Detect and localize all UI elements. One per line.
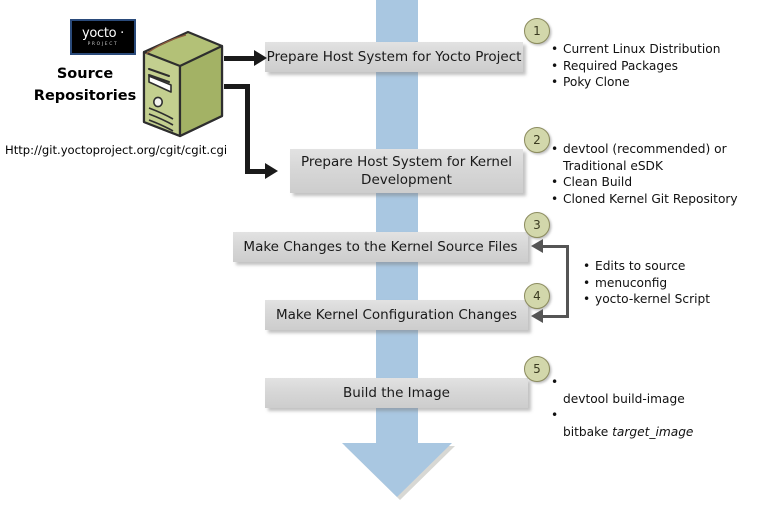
step-badge-5: 5 [524,356,550,382]
source-label-line2: Repositories [20,85,150,107]
step-badge-number: 2 [533,133,541,147]
list-item: devtool build-image [551,374,766,407]
list-item-text: devtool build-image [563,392,685,406]
list-item: yocto-kernel Script [583,291,768,308]
step-2-bullet-list: devtool (recommended) or Traditional eSD… [551,141,766,207]
step-box-build-the-image[interactable]: Build the Image [265,378,528,408]
server-tower-icon [136,30,228,138]
list-item-text: bitbake [563,425,612,439]
list-item: Current Linux Distribution [551,41,766,58]
step-badge-number: 5 [533,362,541,376]
connector-arrowhead-step4-icon [531,309,543,323]
yocto-project-logo: yocto · PROJECT [70,19,136,55]
step-badge-4: 4 [524,283,550,309]
steps-3-4-bullet-list: Edits to source menuconfig yocto-kernel … [583,258,768,308]
step-box-label: Prepare Host System for Kernel Developme… [290,153,523,189]
flow-arrow-head-icon [342,443,452,497]
source-repository-url: Http://git.yoctoproject.org/cgit/cgit.cg… [5,143,227,157]
source-repositories-label: Source Repositories [20,63,150,107]
list-item: Clean Build [551,174,766,191]
step-badge-1: 1 [524,18,550,44]
step-box-make-kernel-config-changes[interactable]: Make Kernel Configuration Changes [265,300,528,330]
step-badge-number: 1 [533,24,541,38]
diagram-canvas: yocto · PROJECT Source Repositories Http… [0,0,769,517]
connector-server-to-step1 [224,56,257,61]
connector-arrowhead-step3-icon [531,239,543,253]
step-badge-2: 2 [524,127,550,153]
step-box-label: Make Changes to the Kernel Source Files [243,238,517,256]
connector-server-to-step2-v [245,84,250,174]
step-1-bullet-list: Current Linux Distribution Required Pack… [551,41,766,91]
list-item: Edits to source [583,258,768,275]
step-box-make-kernel-source-changes[interactable]: Make Changes to the Kernel Source Files [233,232,528,262]
step-box-label: Prepare Host System for Yocto Project [267,48,522,66]
list-item: menuconfig [583,275,768,292]
connector-bracket-top [543,245,569,248]
step-box-label: Build the Image [343,384,450,402]
list-item: bitbake target_image [551,407,766,440]
list-item: Cloned Kernel Git Repository [551,191,766,208]
step-5-bullet-list: devtool build-image bitbake target_image [551,374,766,440]
step-box-prepare-host-kernel[interactable]: Prepare Host System for Kernel Developme… [290,149,523,193]
list-item: Poky Clone [551,74,766,91]
step-box-prepare-host-yocto[interactable]: Prepare Host System for Yocto Project [265,42,523,72]
connector-bracket-bottom [543,315,569,318]
list-item: Required Packages [551,58,766,75]
connector-arrowhead-step1-icon [254,50,267,66]
source-label-line1: Source [20,63,150,85]
logo-subtitle: PROJECT [88,41,119,48]
connector-arrowhead-step2-icon [265,163,278,179]
connector-bracket-vertical [566,245,569,317]
list-item-emphasis: target_image [612,425,693,439]
logo-wordmark: yocto · [82,27,124,40]
list-item: devtool (recommended) or Traditional eSD… [551,141,766,174]
step-badge-3: 3 [524,212,550,238]
step-box-label: Make Kernel Configuration Changes [276,306,517,324]
step-badge-number: 4 [533,289,541,303]
step-badge-number: 3 [533,218,541,232]
